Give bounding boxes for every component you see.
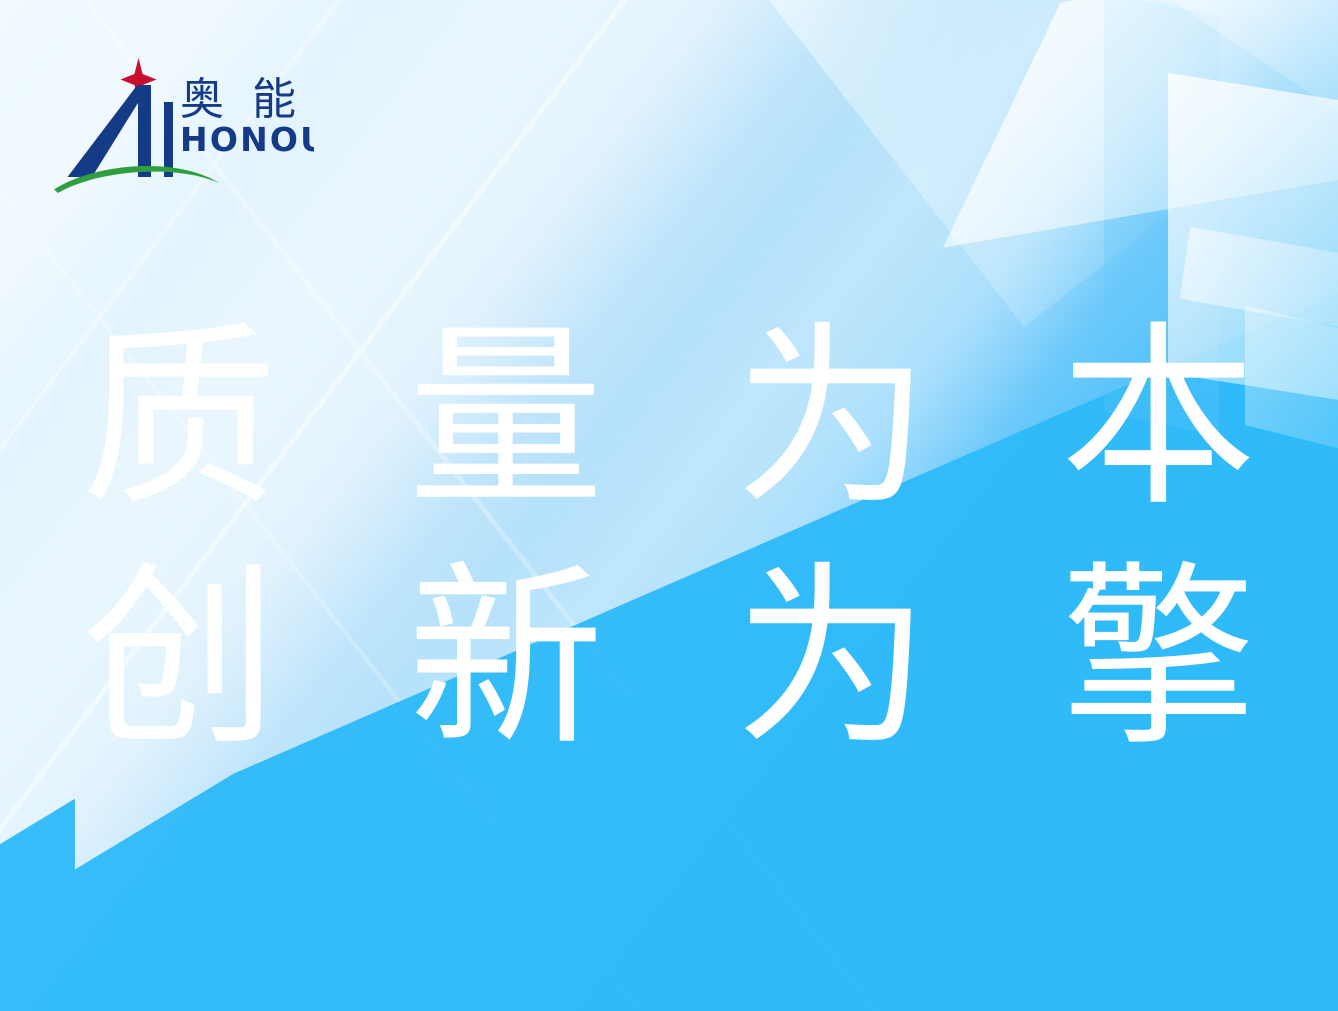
poster-canvas: 奥 能 HONOUR 质 量 为 本 创 新 为 擎 [0, 0, 1338, 1011]
logo-latin-wordmark: HONOUR [180, 120, 314, 159]
slogan-line-2: 创 新 为 擎 [0, 540, 1338, 778]
prism-panel-g [759, 0, 1260, 327]
slogan-line-1: 质 量 为 本 [0, 300, 1338, 538]
slogan-block: 质 量 为 本 创 新 为 擎 [0, 300, 1338, 778]
logo-chinese-wordmark: 奥 能 [180, 74, 303, 125]
honour-a-mark [68, 85, 174, 177]
prism-panel-a [943, 0, 1338, 248]
brand-logo[interactable]: 奥 能 HONOUR [52, 52, 314, 200]
prism-panel-e [1172, 0, 1338, 185]
